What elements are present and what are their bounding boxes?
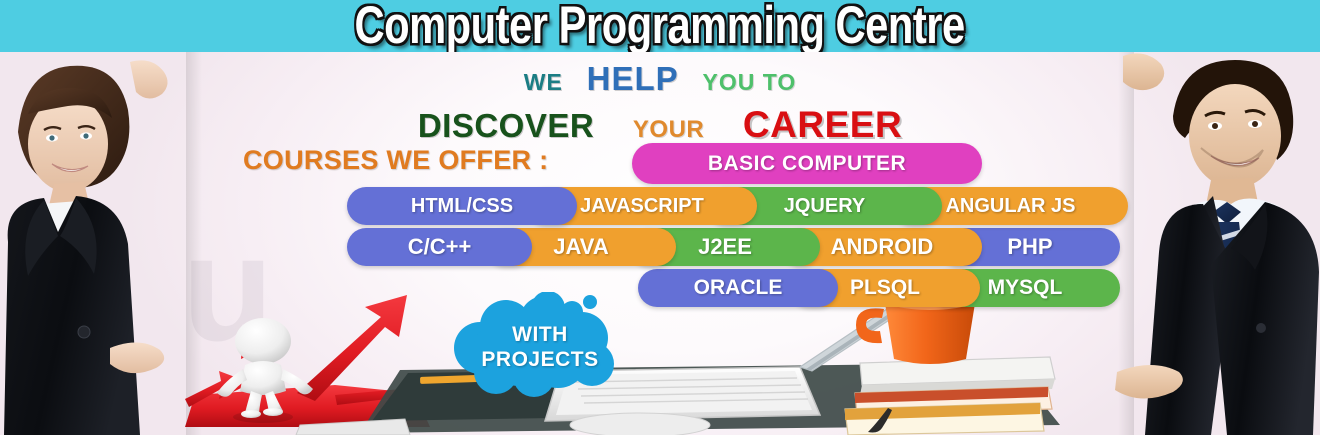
businesswoman-photo bbox=[0, 52, 200, 435]
course-pill-html-css[interactable]: HTML/CSS bbox=[347, 187, 577, 225]
cloud-label-line-2: PROJECTS bbox=[440, 347, 640, 372]
course-pill-oracle[interactable]: ORACLE bbox=[638, 269, 838, 307]
book-stack-icon bbox=[845, 357, 1055, 435]
tablet-icon bbox=[296, 419, 410, 435]
course-pill-basic-computer[interactable]: BASIC COMPUTER bbox=[632, 143, 982, 184]
tagline-word-career: CAREER bbox=[743, 104, 902, 145]
tagline-word-we: WE bbox=[524, 69, 563, 95]
title-bar: Computer Programming Centre bbox=[0, 0, 1320, 52]
page-title: Computer Programming Centre bbox=[355, 0, 965, 56]
cloud-label-line-1: WITH bbox=[440, 322, 640, 347]
courses-heading: COURSES WE OFFER : bbox=[243, 145, 548, 176]
hand-top bbox=[1123, 53, 1164, 90]
hand-top bbox=[130, 60, 168, 98]
tagline-word-your: YOUR bbox=[633, 116, 704, 143]
course-pill-c-cpp[interactable]: C/C++ bbox=[347, 228, 532, 266]
businessman-photo bbox=[1115, 52, 1320, 435]
with-projects-cloud: WITH PROJECTS bbox=[440, 292, 640, 397]
banner: Computer Programming Centre C u WE HELP … bbox=[0, 0, 1320, 435]
tagline-word-discover: DISCOVER bbox=[418, 107, 594, 144]
mouse-icon bbox=[570, 413, 710, 435]
tagline-word-help: HELP bbox=[587, 60, 679, 97]
hand-bottom bbox=[110, 342, 164, 373]
tagline-word-youto: YOU TO bbox=[703, 69, 797, 95]
cloud-label: WITH PROJECTS bbox=[440, 322, 640, 372]
face bbox=[1189, 84, 1281, 188]
